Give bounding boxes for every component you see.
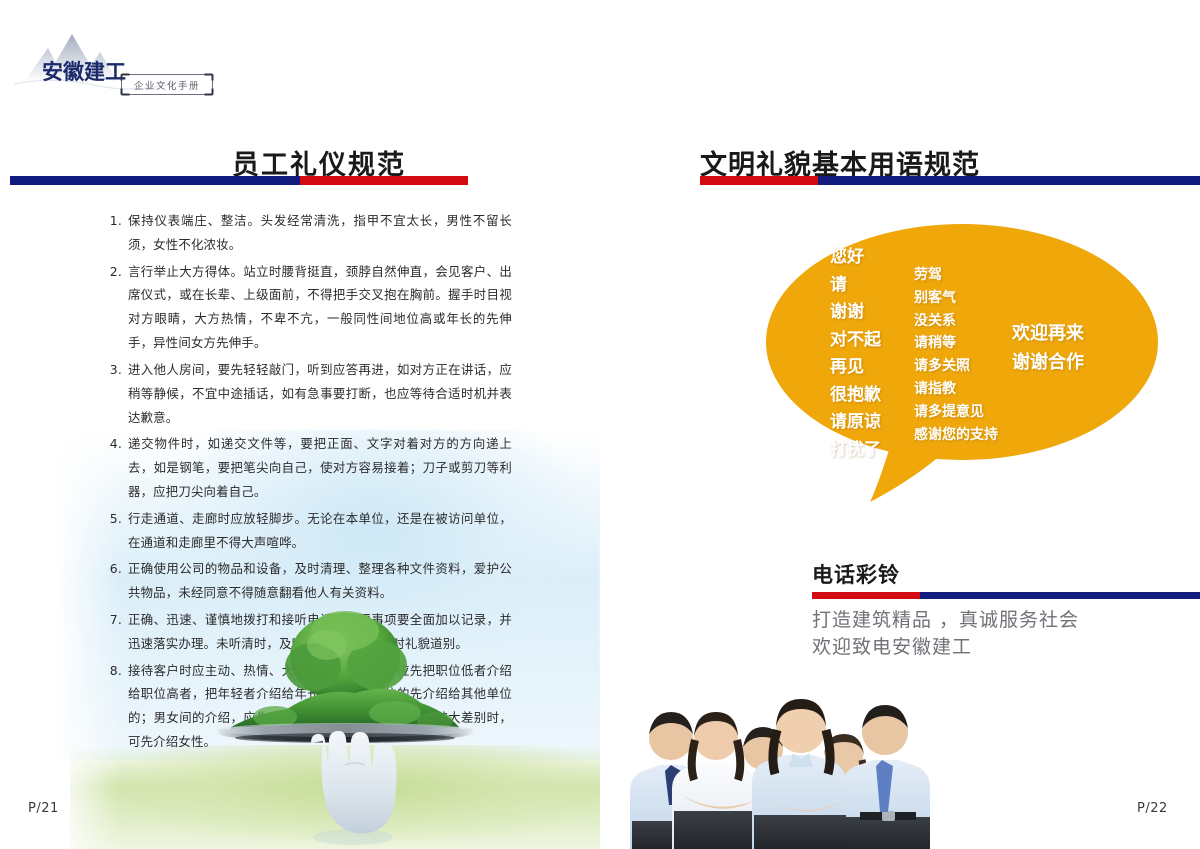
handbook-label: 企业文化手册: [120, 71, 214, 98]
left-title-rule: [10, 176, 468, 185]
rule-item: 3.进入他人房间，要先轻轻敲门，听到应答再进，如对方正在讲话，应稍等静候，不宜中…: [100, 358, 512, 429]
phrase-column-1: 您好请谢谢对不起再见很抱歉请原谅打扰了: [830, 244, 881, 464]
right-title-rule: [700, 176, 1200, 185]
rule-number: 8.: [100, 659, 122, 683]
rule-text: 言行举止大方得体。站立时腰背挺直，颈脖自然伸直，会见客户、出席仪式，或在长辈、上…: [128, 264, 512, 350]
phrase-line: 请原谅: [830, 409, 881, 437]
brand-logo: 安徽建工 企业文化手册: [14, 22, 234, 92]
phrase-line: 欢迎再来: [1012, 319, 1084, 348]
rule-text: 正确使用公司的物品和设备，及时清理、整理各种文件资料，爱护公共物品，未经同意不得…: [128, 561, 512, 600]
rule-navy-segment: [920, 592, 1200, 599]
rule-number: 5.: [100, 507, 122, 531]
handbook-frame: 企业文化手册: [120, 71, 214, 98]
phrase-line: 别客气: [914, 287, 998, 310]
phrase-column-2: 劳驾别客气没关系请稍等请多关照请指教请多提意见感谢您的支持: [914, 264, 998, 447]
phrase-line: 对不起: [830, 327, 881, 355]
rule-navy-segment: [10, 176, 300, 185]
brochure-spread: 安徽建工 企业文化手册 员工礼仪规范 1.保持仪表端庄、整洁。头发经常清洗，指甲…: [0, 0, 1200, 849]
business-team-photo: [620, 668, 930, 849]
ringtone-title-rule: [812, 592, 1200, 599]
phrase-line: 谢谢合作: [1012, 348, 1084, 377]
rule-item: 1.保持仪表端庄、整洁。头发经常清洗，指甲不宜太长，男性不留长须，女性不化浓妆。: [100, 209, 512, 257]
hand-holding-island-tree-image: [195, 605, 495, 849]
rule-number: 1.: [100, 209, 122, 233]
rule-text: 保持仪表端庄、整洁。头发经常清洗，指甲不宜太长，男性不留长须，女性不化浓妆。: [128, 213, 512, 252]
rule-number: 2.: [100, 260, 122, 284]
rule-number: 6.: [100, 557, 122, 581]
phrase-line: 没关系: [914, 310, 998, 333]
rule-text: 进入他人房间，要先轻轻敲门，听到应答再进，如对方正在讲话，应稍等静候，不宜中途插…: [128, 362, 512, 425]
phrase-line: 劳驾: [914, 264, 998, 287]
rule-text: 递交物件时，如递交文件等，要把正面、文字对着对方的方向递上去，如是钢笔，要把笔尖…: [128, 436, 512, 499]
phrase-line: 谢谢: [830, 299, 881, 327]
left-page: 安徽建工 企业文化手册 员工礼仪规范 1.保持仪表端庄、整洁。头发经常清洗，指甲…: [0, 0, 600, 849]
left-page-number: P/21: [28, 801, 59, 816]
polite-phrases-bubble: 您好请谢谢对不起再见很抱歉请原谅打扰了 劳驾别客气没关系请稍等请多关照请指教请多…: [762, 212, 1162, 512]
phrase-line: 很抱歉: [830, 382, 881, 410]
right-page-number: P/22: [1137, 801, 1168, 816]
ringtone-slogan-line-2: 欢迎致电安徽建工: [812, 634, 1079, 661]
phrase-line: 请: [830, 272, 881, 300]
ringtone-slogan-line-1: 打造建筑精品 ，真诚服务社会: [812, 607, 1079, 634]
rule-item: 5.行走通道、走廊时应放轻脚步。无论在本单位，还是在被访问单位，在通道和走廊里不…: [100, 507, 512, 555]
rule-red-segment: [812, 592, 920, 599]
phrase-line: 请稍等: [914, 332, 998, 355]
ringtone-slogan: 打造建筑精品 ，真诚服务社会 欢迎致电安徽建工: [812, 607, 1079, 661]
person-front-right: [842, 705, 930, 849]
rule-number: 3.: [100, 358, 122, 382]
brand-name: 安徽建工: [42, 62, 126, 83]
rule-item: 2.言行举止大方得体。站立时腰背挺直，颈脖自然伸直，会见客户、出席仪式，或在长辈…: [100, 260, 512, 355]
rule-number: 7.: [100, 608, 122, 632]
rule-red-segment: [700, 176, 818, 185]
rule-red-segment: [300, 176, 468, 185]
phrase-line: 请多提意见: [914, 401, 998, 424]
rule-item: 4.递交物件时，如递交文件等，要把正面、文字对着对方的方向递上去，如是钢笔，要把…: [100, 432, 512, 503]
rule-navy-segment: [818, 176, 1200, 185]
phrase-line: 感谢您的支持: [914, 424, 998, 447]
ringtone-section-title: 电话彩铃: [812, 559, 900, 589]
rule-number: 4.: [100, 432, 122, 456]
person-front-center-woman: [752, 699, 846, 849]
phrase-line: 请指教: [914, 378, 998, 401]
rule-item: 6.正确使用公司的物品和设备，及时清理、整理各种文件资料，爱护公共物品，未经同意…: [100, 557, 512, 605]
rule-text: 行走通道、走廊时应放轻脚步。无论在本单位，还是在被访问单位，在通道和走廊里不得大…: [128, 511, 512, 550]
phrase-column-3: 欢迎再来谢谢合作: [1012, 319, 1084, 377]
phrase-line: 打扰了: [830, 437, 881, 465]
phrase-line: 请多关照: [914, 355, 998, 378]
phrase-line: 您好: [830, 244, 881, 272]
phrase-line: 再见: [830, 354, 881, 382]
